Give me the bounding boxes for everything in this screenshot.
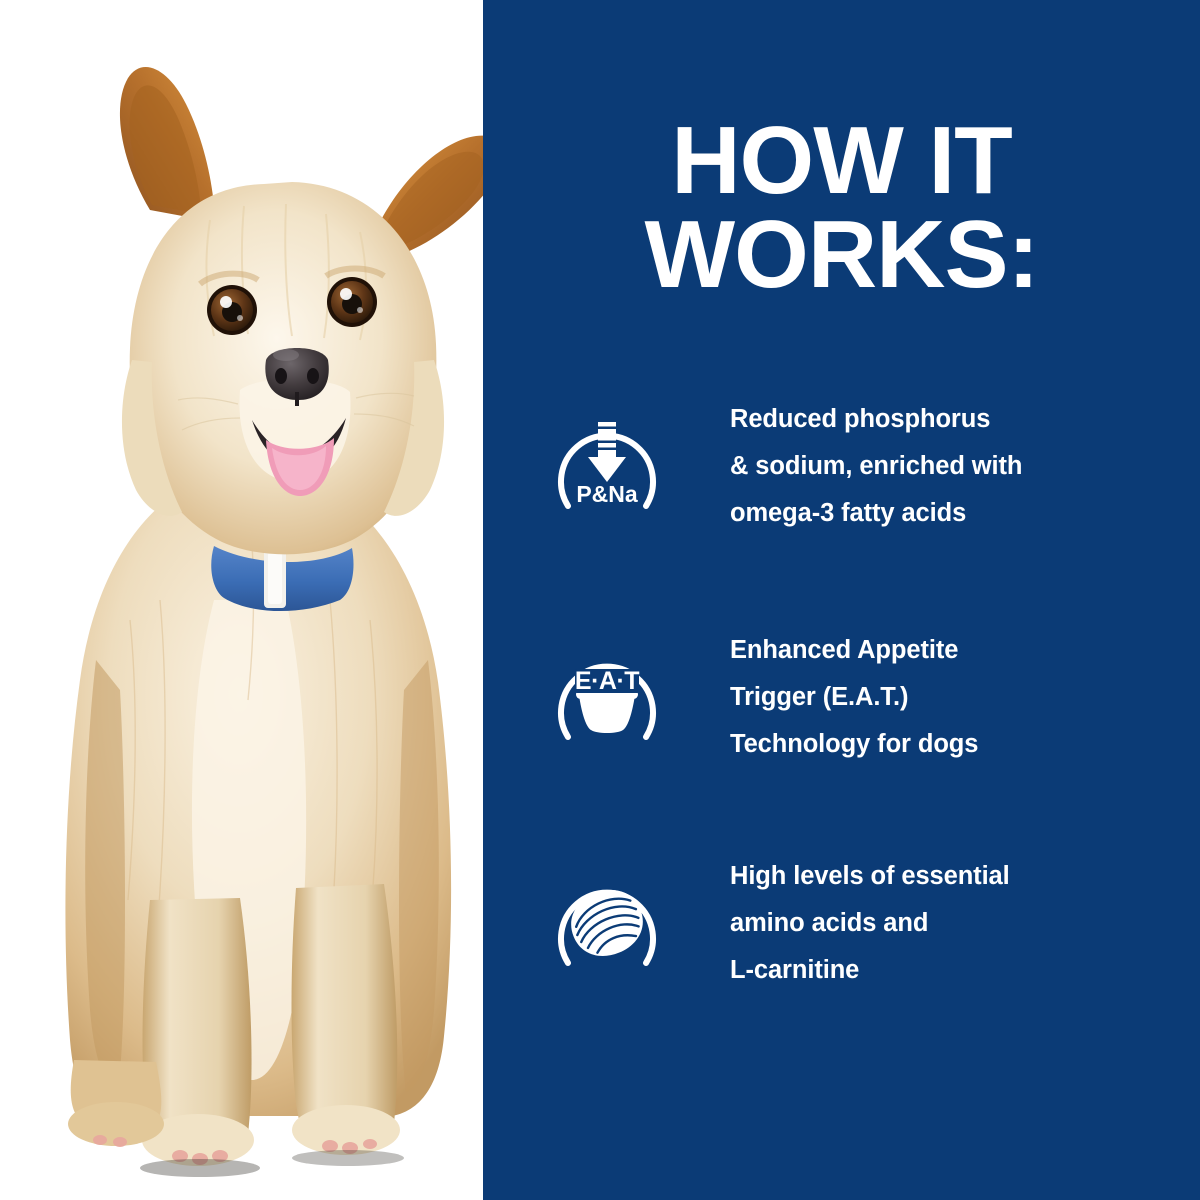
feature-line: High levels of essential [730, 853, 1160, 900]
page-root: HOW IT WORKS: [0, 0, 1200, 1200]
dog-photo-panel [0, 0, 483, 1200]
feature-line: Technology for dogs [730, 721, 1160, 768]
feature-item-phosphorus-sodium: P&Na Reduced phosphorus & sodium, enrich… [483, 396, 1200, 572]
feature-icon-cell: P&Na [483, 396, 730, 522]
feature-text: Reduced phosphorus & sodium, enriched wi… [730, 396, 1200, 538]
headline-line-1: HOW IT [671, 107, 1012, 214]
feature-text: Enhanced Appetite Trigger (E.A.T.) Techn… [730, 627, 1200, 769]
dog-photo [0, 0, 483, 1200]
headline-line-2: WORKS: [483, 208, 1200, 302]
feature-list: P&Na Reduced phosphorus & sodium, enrich… [483, 396, 1200, 1029]
feature-line: omega-3 fatty acids [730, 490, 1160, 537]
feature-line: & sodium, enriched with [730, 443, 1160, 490]
info-panel: HOW IT WORKS: [483, 0, 1200, 1200]
muscle-fiber-icon [547, 859, 667, 979]
feature-icon-cell: E·A·T [483, 627, 730, 753]
feature-line: L-carnitine [730, 947, 1160, 994]
feature-item-eat-technology: E·A·T Enhanced Appetite Trigger (E.A.T.)… [483, 627, 1200, 803]
dog-head [122, 182, 444, 554]
feature-line: amino acids and [730, 900, 1160, 947]
icon-label-pna: P&Na [576, 481, 638, 507]
feature-icon-cell [483, 853, 730, 979]
eat-technology-bowl-icon: E·A·T [547, 633, 667, 753]
reduced-phosphorus-sodium-icon: P&Na [547, 402, 667, 522]
icon-label-eat: E·A·T [574, 667, 638, 695]
feature-line: Reduced phosphorus [730, 396, 1160, 443]
feature-line: Trigger (E.A.T.) [730, 674, 1160, 721]
page-title: HOW IT WORKS: [483, 114, 1200, 302]
feature-item-amino-acids: High levels of essential amino acids and… [483, 853, 1200, 1029]
feature-text: High levels of essential amino acids and… [730, 853, 1200, 995]
feature-line: Enhanced Appetite [730, 627, 1160, 674]
